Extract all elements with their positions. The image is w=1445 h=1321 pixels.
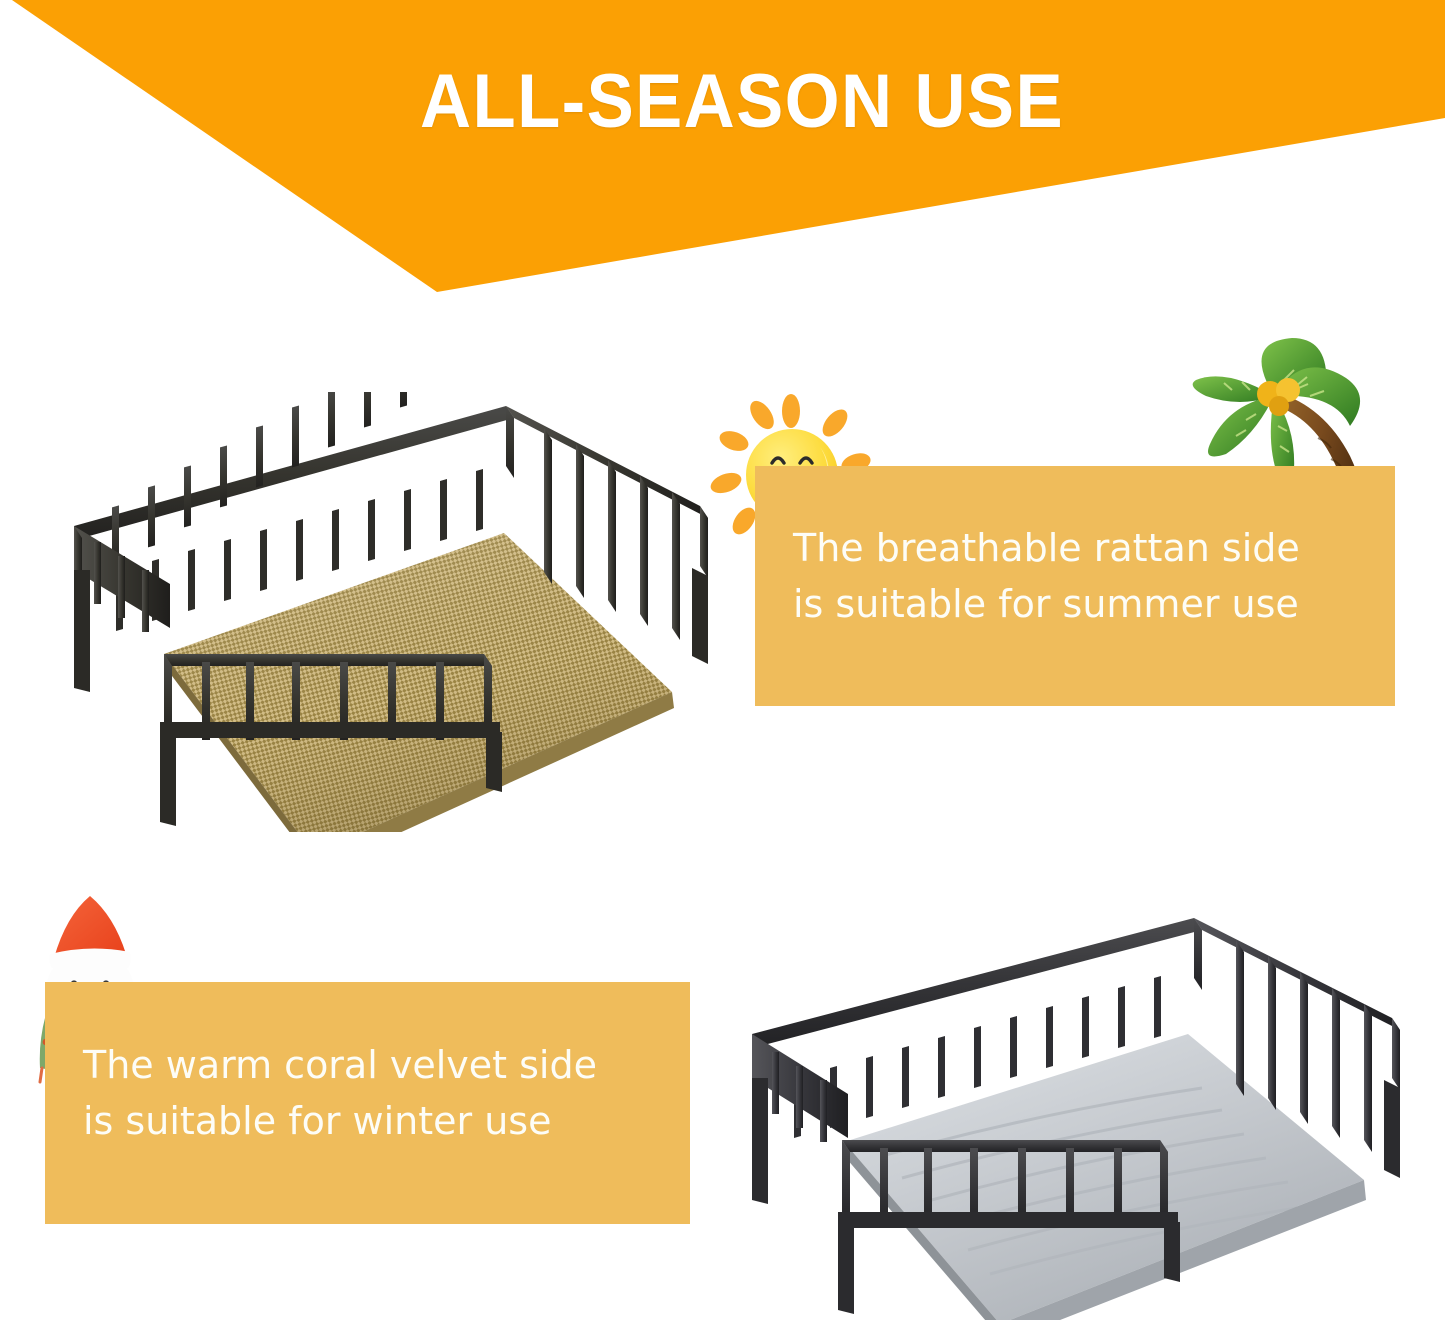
product-image-summer-bed xyxy=(52,392,728,832)
banner-orange-shape xyxy=(12,0,1445,292)
bed-leg-left xyxy=(74,570,90,692)
bed-leg-right xyxy=(1384,1080,1400,1178)
product-image-winter-bed xyxy=(732,912,1432,1320)
callout-box-summer: The breathable rattan side is suitable f… xyxy=(755,466,1395,706)
callout-winter-text: The warm coral velvet side is suitable f… xyxy=(83,1037,690,1149)
callout-summer-text: The breathable rattan side is suitable f… xyxy=(793,520,1395,632)
infographic-page: ALL-SEASON USE xyxy=(0,0,1445,1321)
bed-leg-right xyxy=(692,568,708,664)
velvet-mat xyxy=(844,1034,1366,1320)
page-title: ALL-SEASON USE xyxy=(51,58,1395,145)
callout-winter-line-1: The warm coral velvet side xyxy=(83,1037,690,1093)
rattan-mat xyxy=(164,533,674,832)
callout-summer-line-1: The breathable rattan side xyxy=(793,520,1395,576)
header-banner: ALL-SEASON USE xyxy=(0,0,1445,300)
callout-box-winter: The warm coral velvet side is suitable f… xyxy=(45,982,690,1224)
callout-winter-line-2: is suitable for winter use xyxy=(83,1093,690,1149)
callout-summer-line-2: is suitable for summer use xyxy=(793,576,1395,632)
bed-leg-left xyxy=(752,1078,768,1204)
